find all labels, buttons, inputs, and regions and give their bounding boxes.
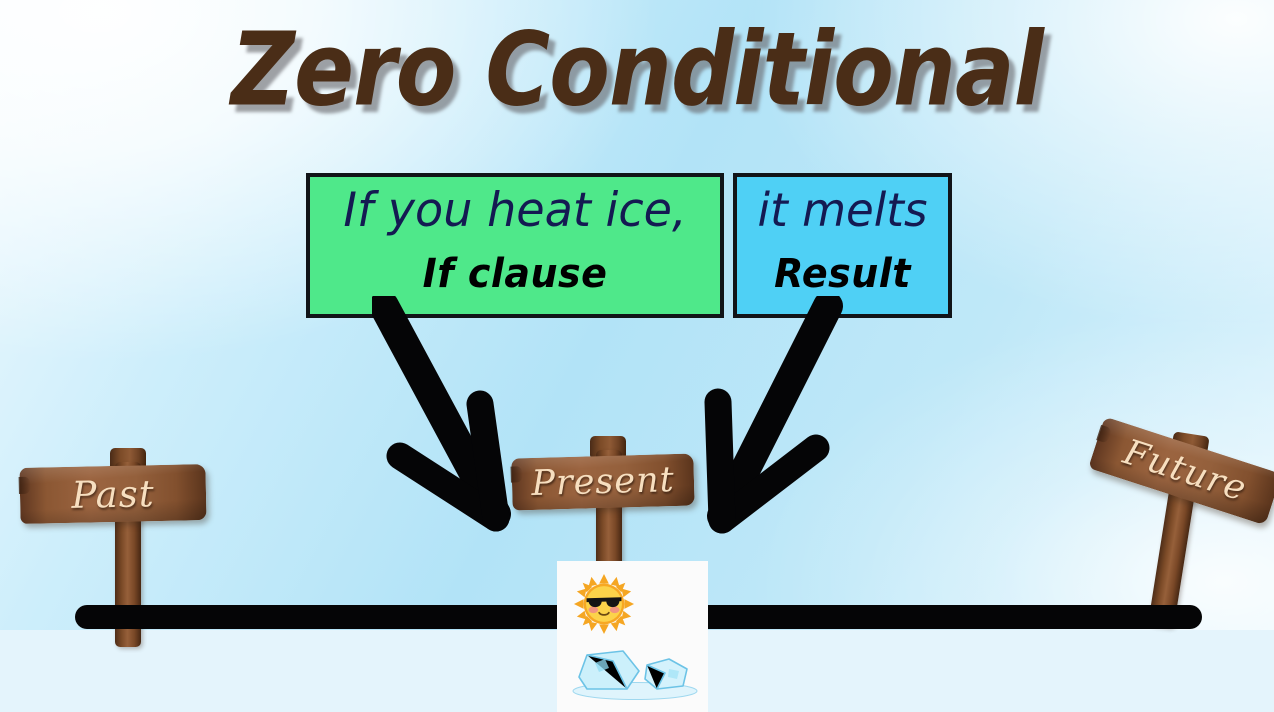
signpost-future: Future <box>1092 420 1274 630</box>
signpost-past-plank: Past <box>19 464 206 524</box>
result-clause-sentence: it melts <box>739 183 946 237</box>
if-clause-sentence: If you heat ice, <box>314 183 716 238</box>
result-clause-role-label: Result <box>742 251 942 297</box>
slide-canvas: Zero Conditional If you heat ice, If cla… <box>0 0 1274 712</box>
if-clause-role-label: If clause <box>320 251 710 297</box>
signpost-past-label: Past <box>71 472 155 517</box>
sun-with-sunglasses-emoji-icon <box>573 573 635 635</box>
signpost-future-label: Future <box>1118 432 1251 509</box>
arrow-result-to-present-icon <box>698 296 858 536</box>
example-card <box>557 561 708 712</box>
page-title: Zero Conditional <box>51 10 1223 129</box>
signpost-past: Past <box>10 440 230 630</box>
melting-ice-cubes-image <box>565 641 705 703</box>
signpost-present-label: Present <box>531 460 675 504</box>
signpost-present-plank: Present <box>511 453 694 510</box>
